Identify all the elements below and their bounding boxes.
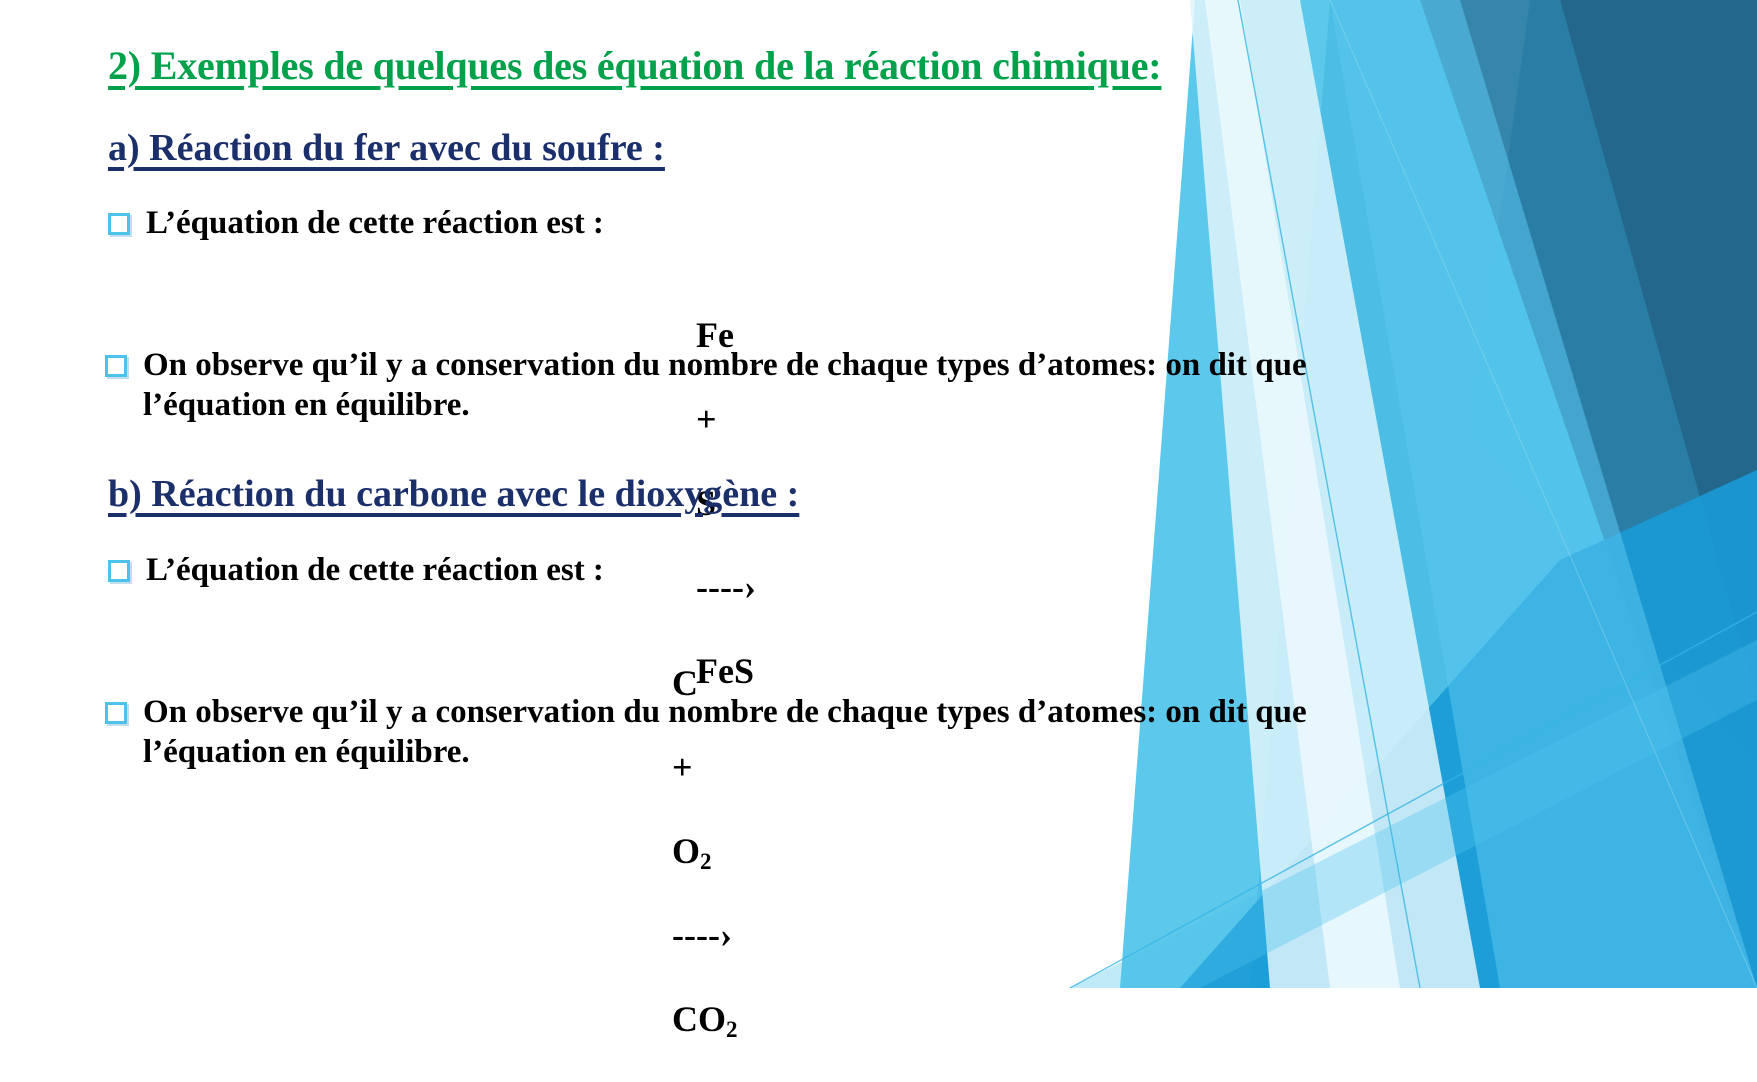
bullet-equation-intro-b: L’équation de cette réaction est : [108, 550, 604, 590]
hollow-square-bullet-icon [108, 560, 130, 582]
bullet-observation-b-text: On observe qu’il y a conservation du nom… [143, 692, 1425, 773]
hollow-square-bullet-icon [108, 213, 130, 235]
equation-co2-reactant-2-subscript: 2 [700, 848, 712, 874]
equation-co2-product-subscript: 2 [726, 1016, 738, 1042]
slide-content: 2) Exemples de quelques des équation de … [0, 0, 1757, 988]
hollow-square-bullet-icon [105, 702, 127, 724]
equation-carbon-dioxygen: C + O2 ----› CO2 [636, 620, 738, 1082]
bullet-equation-intro-a: L’équation de cette réaction est : [108, 203, 604, 243]
bullet-equation-intro-b-text: L’équation de cette réaction est : [146, 550, 604, 590]
bullet-observation-b: On observe qu’il y a conservation du nom… [105, 692, 1425, 773]
equation-co2-arrow: ----› [672, 915, 732, 955]
hollow-square-bullet-icon [105, 355, 127, 377]
bullet-observation-a: On observe qu’il y a conservation du nom… [105, 345, 1425, 426]
equation-fes-arrow: ----› [696, 567, 756, 607]
equation-co2-reactant-2: O [672, 831, 700, 871]
section-heading-a: a) Réaction du fer avec du soufre : [108, 128, 665, 170]
slide-title: 2) Exemples de quelques des équation de … [108, 44, 1161, 88]
section-heading-b: b) Réaction du carbone avec le dioxygène… [108, 474, 799, 516]
bullet-observation-a-text: On observe qu’il y a conservation du nom… [143, 345, 1425, 426]
equation-co2-product: CO [672, 999, 726, 1039]
bullet-equation-intro-a-text: L’équation de cette réaction est : [146, 203, 604, 243]
